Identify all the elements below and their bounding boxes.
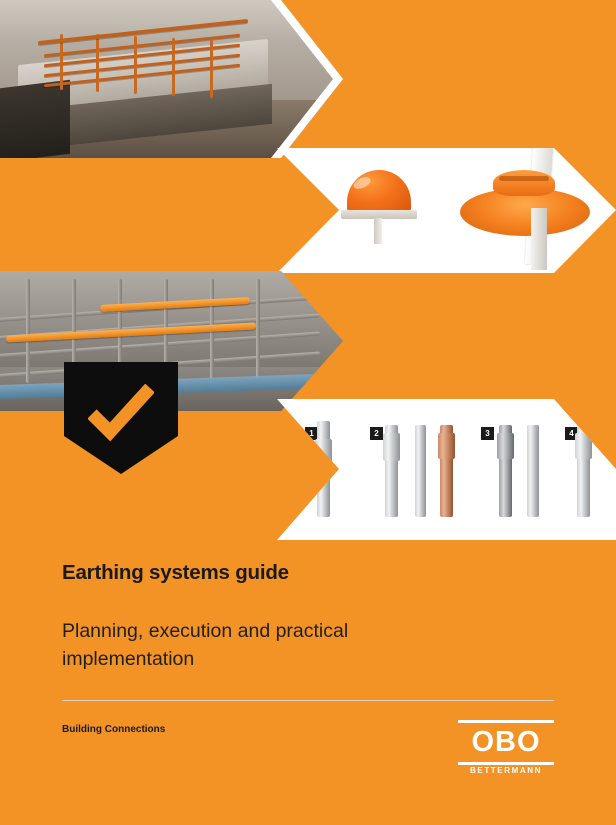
obo-bettermann-logo: OBO BETTERMANN [458,720,554,776]
cover-page: 1 2 3 4 Earthing systems guide Planning,… [0,0,616,825]
divider [62,700,554,701]
earthing-disc-top [493,170,555,196]
earthing-disc-band [499,176,549,181]
earth-rod [527,425,539,517]
panel-foundation-photo [0,0,343,158]
logo-bottom-rule [458,762,554,765]
page-subtitle: Planning, execution and practical implem… [62,617,482,673]
hero-image-collage: 1 2 3 4 [0,0,616,540]
copper-rod-coupler [438,433,455,459]
product-number-badge: 2 [370,427,383,440]
mounting-plate-lower [531,208,547,270]
earth-rod-coupler [315,439,332,465]
earth-rod-coupler [575,433,592,459]
rebar-stirrup [210,40,213,98]
page-title: Earthing systems guide [62,561,562,585]
rebar-stirrup [172,38,175,96]
rebar-stirrup [134,36,137,94]
earth-rod-coupler [497,433,514,459]
mesh-bar [26,279,30,383]
earth-rod-coupler [383,433,400,461]
logo-tagline: BETTERMANN [458,766,554,775]
panel-components-render [277,148,616,273]
check-badge [64,362,178,474]
product-number-badge: 3 [481,427,494,440]
mesh-bar [256,279,260,379]
panel-products-row: 1 2 3 4 [277,399,616,540]
check-mark-icon [88,384,154,442]
logo-wordmark: OBO [458,724,554,760]
panel1-shadow [0,80,70,158]
rebar-stirrup [96,34,99,92]
earthing-cap-stem [374,218,382,244]
earthing-cap-component [347,170,411,214]
earth-rod [317,421,330,517]
logo-top-rule [458,720,554,723]
earth-rod [415,425,426,517]
brand-kicker: Building Connections [62,724,165,735]
